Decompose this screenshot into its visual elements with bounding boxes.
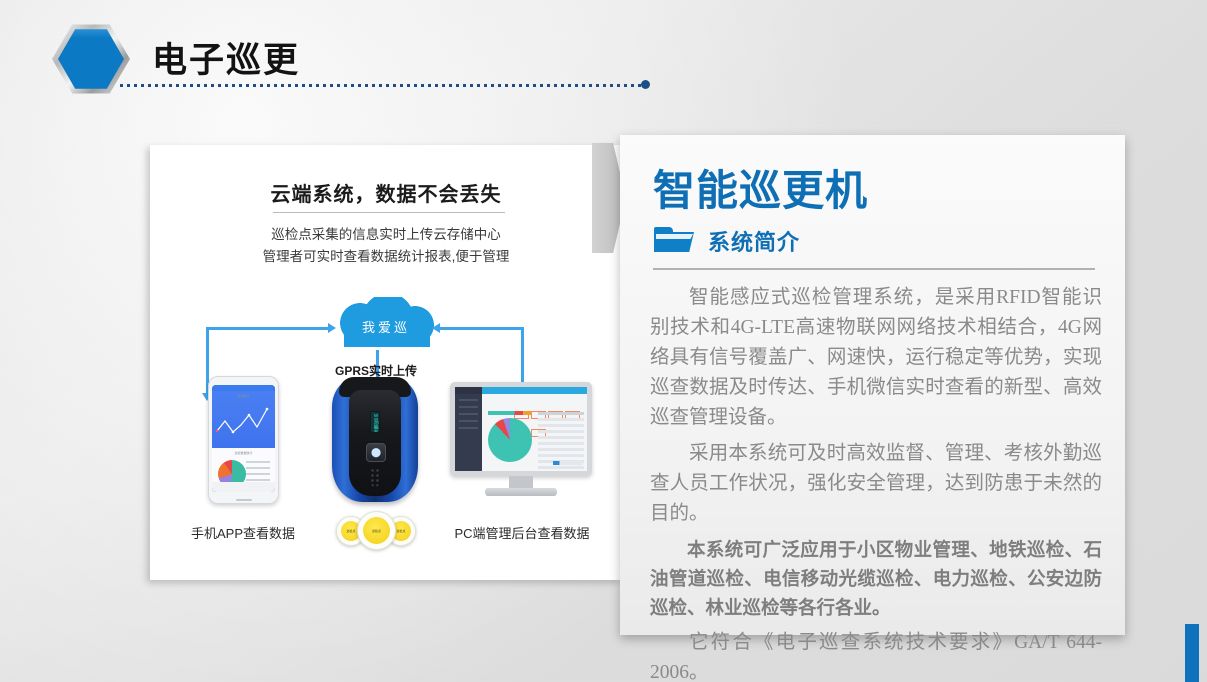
dashboard-body	[482, 394, 587, 471]
monitor-frame	[450, 382, 592, 476]
arrow-left-head-to-cloud	[328, 323, 336, 333]
cloud-label: 我爱巡	[330, 317, 442, 336]
info-panel: 智能巡更机 系统简介 智能感应式巡检管理系统，是采用RFID智能识别技术和4G-…	[620, 135, 1125, 635]
paragraph-1: 智能感应式巡检管理系统，是采用RFID智能识别技术和4G-LTE高速物联网网络技…	[650, 283, 1102, 433]
info-panel-body: 智能感应式巡检管理系统，是采用RFID智能识别技术和4G-LTE高速物联网网络技…	[650, 283, 1102, 682]
phone-pie-caption: 巡检数据统计	[212, 451, 275, 455]
dashboard-data-table	[538, 412, 584, 455]
paragraph-2: 采用本系统可及时高效监督、管理、考核外勤巡查人员工作状况，强化安全管理，达到防患…	[650, 439, 1102, 529]
monitor-screen	[455, 387, 587, 471]
device-face: W巡检 在线 2020-09-08 15:32 巡检点02 已上传成功 ⬤	[349, 390, 401, 496]
dashboard-legend	[488, 411, 532, 415]
cloud-icon: 我爱巡	[330, 297, 442, 355]
rfid-tag-center-label: 巡检点	[372, 529, 381, 533]
device-scan-button[interactable]: ⬤	[366, 443, 386, 462]
device-lcd-screen: W巡检 在线 2020-09-08 15:32 巡检点02 已上传成功	[370, 411, 380, 433]
phone-stats-panel: 巡检数据统计	[212, 448, 275, 482]
folder-icon-lip	[656, 234, 693, 239]
arrow-right-horizontal	[440, 327, 524, 330]
phone-home-indicator	[236, 499, 252, 501]
rfid-tag-right-label: 巡检点	[396, 529, 405, 533]
phone-chart-svg	[212, 401, 275, 441]
phone-line-chart: 考勤统计	[212, 391, 275, 448]
rfid-tag-center: 巡检点	[357, 511, 396, 550]
page-title: 电子巡更	[152, 32, 300, 83]
smartphone-illustration: 考勤统计 巡检数据统计	[208, 376, 279, 504]
monitor-stand-base	[485, 488, 557, 496]
diagram-title: 云端系统，数据不会丢失	[150, 178, 622, 207]
phone-caption: 手机APP查看数据	[178, 523, 308, 542]
diagram-subtitle-line-2: 管理者可实时查看数据统计报表,便于管理	[150, 245, 622, 265]
slide-canvas: 电子巡更 云端系统，数据不会丢失 巡检点采集的信息实时上传云存储中心 管理者可实…	[0, 0, 1207, 682]
section-divider	[653, 268, 1095, 270]
hexagon-bullet-icon	[52, 23, 130, 95]
desktop-monitor-illustration	[450, 382, 592, 504]
phone-chart-caption: 考勤统计	[212, 394, 275, 398]
device-screen-line-3: 巡检点02 已上传成功	[374, 426, 379, 433]
phone-nav-bar	[212, 482, 275, 492]
info-panel-title: 智能巡更机	[653, 157, 868, 218]
dashboard-sidebar	[455, 394, 482, 471]
folder-icon	[654, 227, 694, 254]
dashboard-topbar-right	[482, 387, 587, 394]
paragraph-4: 它符合《电子巡查系统技术要求》GA/T 644-2006。	[650, 628, 1102, 682]
section-heading: 系统简介	[708, 225, 800, 257]
dashboard-pie-chart	[488, 418, 532, 462]
device-grip-texture	[370, 468, 380, 487]
dashboard-pagination	[553, 461, 583, 465]
rfid-tag-center-core: 巡检点	[363, 517, 390, 544]
arrow-right-head-to-cloud	[432, 323, 440, 333]
header-dot-endpoint	[641, 80, 650, 89]
arrow-left-horizontal	[206, 327, 332, 330]
phone-bezel: 考勤统计 巡检数据统计	[212, 385, 275, 492]
corner-accent-bar	[1185, 624, 1199, 682]
pc-caption: PC端管理后台查看数据	[446, 523, 598, 542]
diagram-title-divider	[273, 212, 505, 213]
monitor-stand-neck	[509, 476, 533, 488]
rfid-tag-left-label: 巡检点	[346, 529, 355, 533]
patrol-device-illustration: W巡检 在线 2020-09-08 15:32 巡检点02 已上传成功 ⬤	[332, 377, 418, 502]
header-dotted-rule	[120, 84, 644, 87]
diagram-card: 云端系统，数据不会丢失 巡检点采集的信息实时上传云存储中心 管理者可实时查看数据…	[150, 145, 622, 580]
diagram-subtitle-line-1: 巡检点采集的信息实时上传云存储中心	[150, 223, 622, 243]
rfid-tag-group: 巡检点 巡检点 巡检点	[336, 509, 414, 551]
slide-header: 电子巡更	[0, 0, 1207, 120]
paragraph-3-highlighted: 本系统可广泛应用于小区物业管理、地铁巡检、石油管道巡检、电信移动光缆巡检、电力巡…	[650, 535, 1102, 622]
